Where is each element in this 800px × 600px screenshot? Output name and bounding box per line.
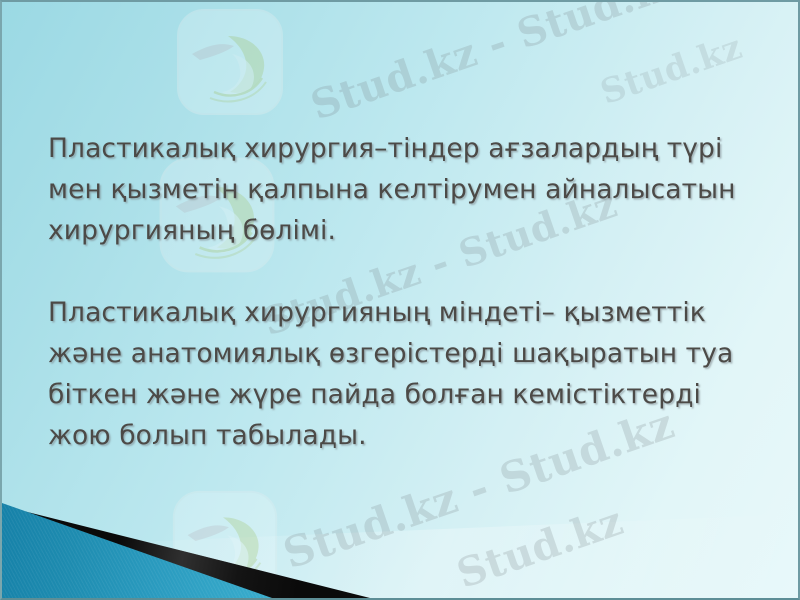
watermark-text: Stud.kz	[451, 497, 629, 598]
watermark-text: Stud.kz	[595, 27, 747, 113]
slide-text-body: Пластикалық хирургия–тіндер ағзалардың т…	[48, 128, 760, 456]
paragraph-definition: Пластикалық хирургия–тіндер ағзалардың т…	[48, 128, 760, 251]
stud-kz-logo-icon	[170, 2, 290, 122]
watermark-text: Stud.kz - Stud.kz	[305, 0, 690, 129]
paragraph-objective: Пластикалық хирургияның міндеті– қызметт…	[48, 292, 760, 456]
presentation-slide: Stud.kz - Stud.kz Stud.kz - Stud.kz Stud…	[0, 0, 800, 600]
